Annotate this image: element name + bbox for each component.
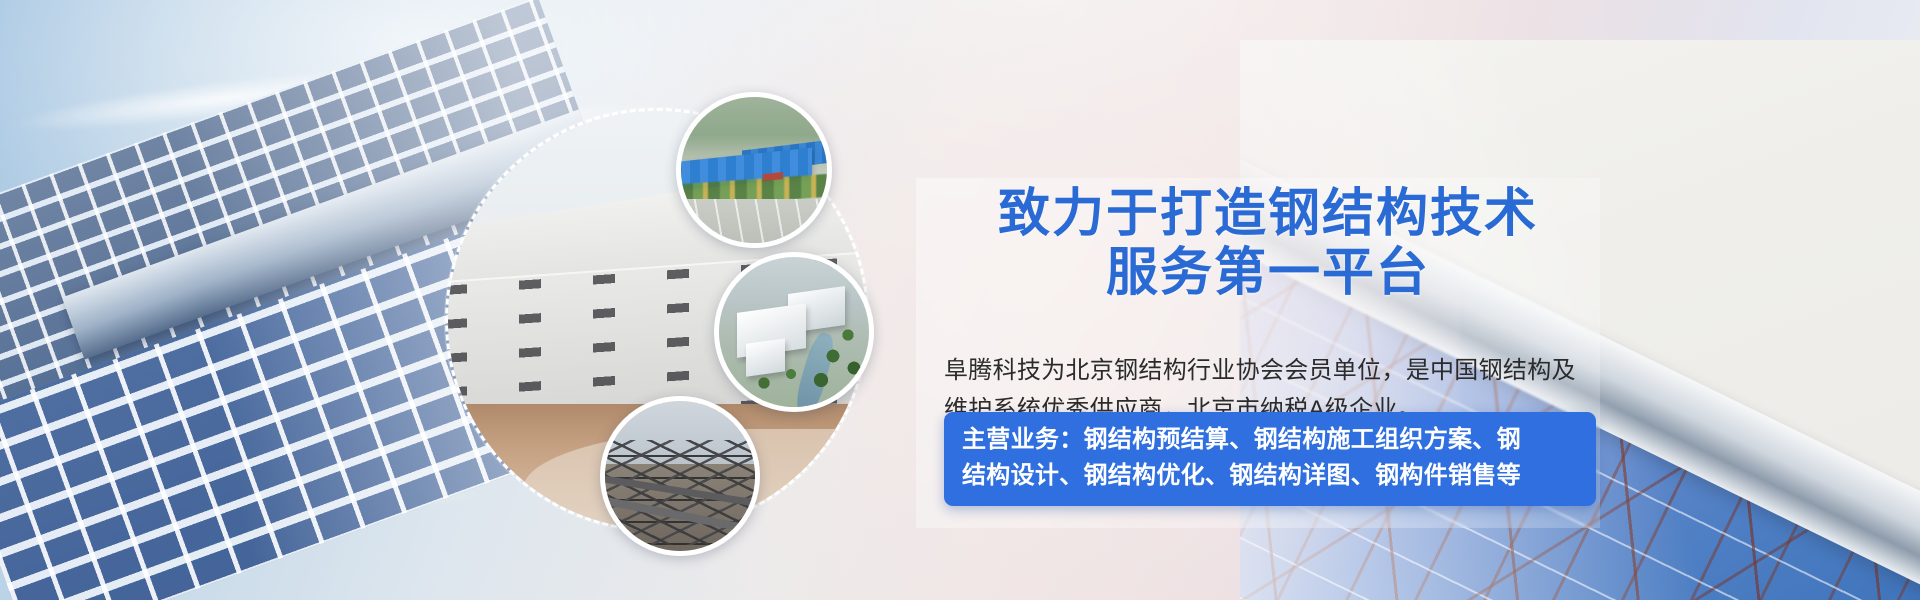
photo-circle-aerial-factory (676, 92, 832, 248)
services-badge: 主营业务：钢结构预结算、钢结构施工组织方案、钢 结构设计、钢结构优化、钢结构详图… (944, 412, 1596, 506)
photo-circle-steel-truss (600, 396, 760, 556)
photo-circle-campus-buildings (714, 252, 874, 412)
headline-line-2: 服务第一平台 (916, 243, 1620, 302)
campus-trees (719, 257, 869, 407)
services-badge-line-1: 主营业务：钢结构预结算、钢结构施工组织方案、钢 (962, 426, 1521, 453)
services-badge-line-2: 结构设计、钢结构优化、钢结构详图、钢构件销售等 (962, 458, 1578, 494)
banner-headline: 致力于打造钢结构技术 服务第一平台 (916, 184, 1620, 303)
hero-banner: 致力于打造钢结构技术 服务第一平台 阜腾科技为北京钢结构行业协会会员单位，是中国… (0, 0, 1920, 600)
headline-line-1: 致力于打造钢结构技术 (998, 183, 1538, 244)
aerial-factory-parking-lot (681, 199, 827, 243)
